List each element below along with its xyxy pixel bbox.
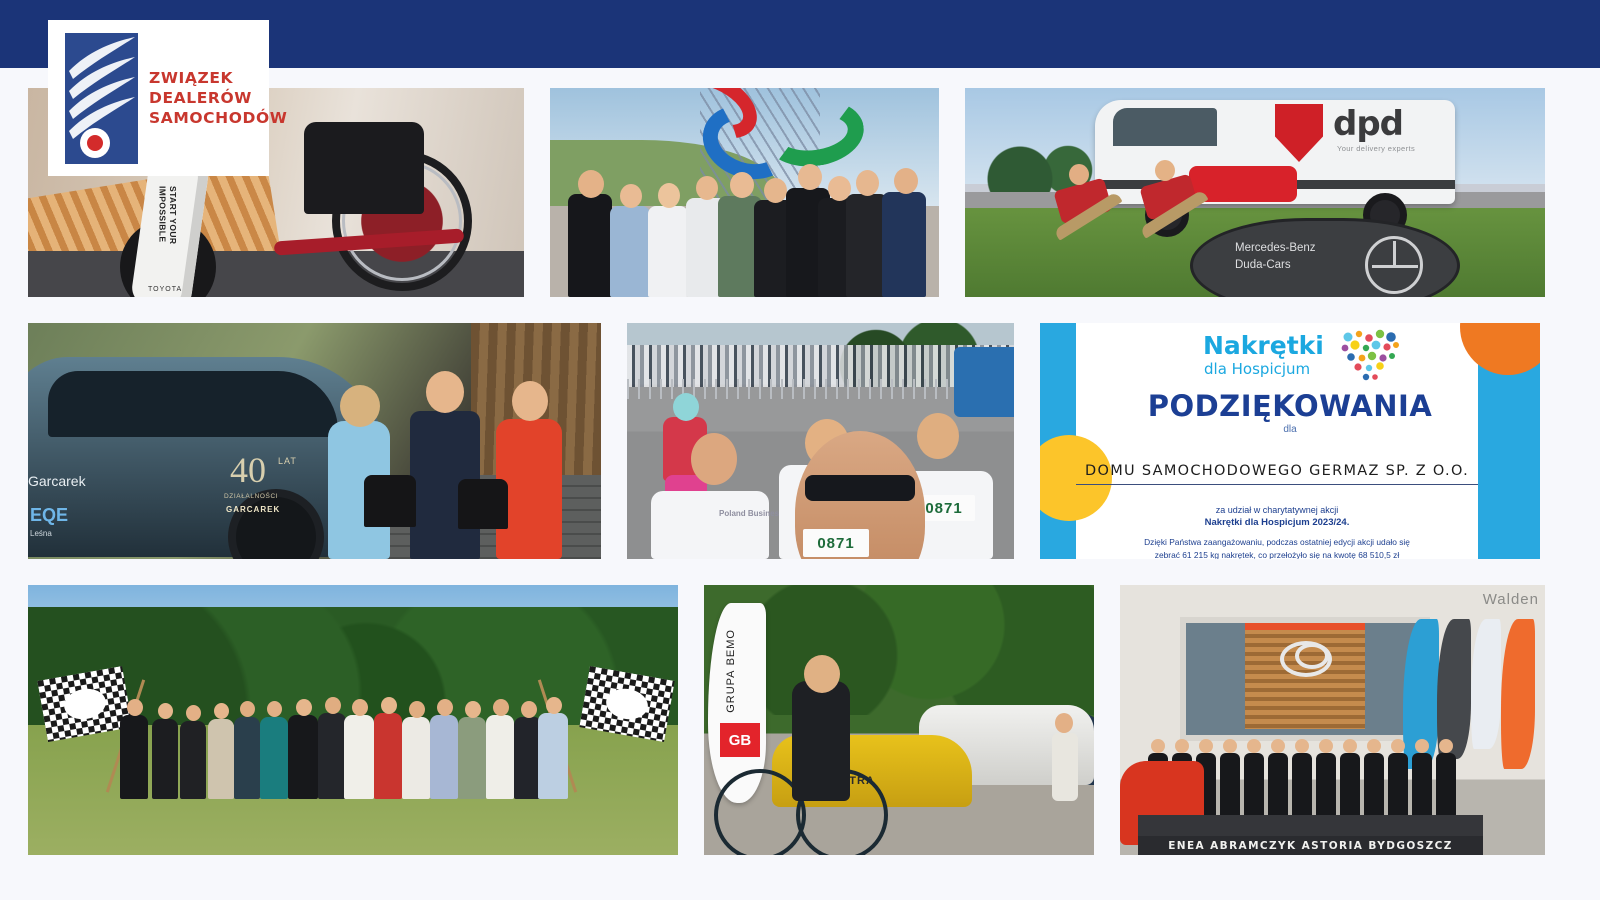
certificate-body-line-4: zebrać 61 215 kg nakrętek, co przełożyło… (1076, 550, 1478, 559)
flag-banner-white (1471, 619, 1501, 749)
photo-grupa-bemo-cyclist[interactable]: ASTRA GRUPA BEMO GB (704, 585, 1094, 855)
dealer-location: Leśna (30, 529, 52, 538)
dpd-brand: dpd (1333, 104, 1403, 144)
photo-toyota-astoria-bydgoszcz[interactable]: Walden (1120, 585, 1545, 855)
photo-team-checkered-flags[interactable] (28, 585, 678, 855)
nakretki-logo-line-2: dla Hospicjum (1204, 360, 1310, 378)
certificate-title: PODZIĘKOWANIA (1040, 389, 1540, 423)
certificate-body-line-1: za udział w charytatywnej akcji (1076, 505, 1478, 515)
sponsor-line-2: BEMO (725, 629, 737, 665)
nakretki-logo-line-1: Nakrętki (1203, 331, 1324, 360)
dealer-name: Garcarek (28, 473, 86, 489)
anniversary-sub: DZIAŁALNOŚCI (224, 493, 278, 500)
zds-logo-mark-icon (65, 33, 138, 164)
car-model: EQE (30, 505, 68, 526)
bottlecap-heart-icon (1340, 329, 1402, 385)
anniversary-brand: GARCAREK (226, 505, 280, 514)
handbike-slogan: START YOUR IMPOSSIBLE (156, 186, 178, 297)
photo-paralympic-group[interactable] (550, 88, 939, 297)
certificate-for-label: dla (1040, 424, 1540, 435)
certificate-body-line-2: Nakrętki dla Hospicjum 2023/24. (1076, 517, 1478, 528)
sponsor-line-1: GRUPA (725, 669, 737, 712)
handbike-brand: TOYOTA (148, 286, 182, 293)
sponsor-badge: GB (720, 723, 760, 757)
site-logo[interactable]: ZWIĄZEK DEALERÓW SAMOCHODÓW (48, 20, 269, 176)
photo-poland-business-run[interactable]: Poland Business Run 2024 0871 0871 (627, 323, 1014, 559)
banner-text: Mercedes-Benz Duda-Cars (1235, 240, 1316, 275)
building-sign: Walden (1483, 591, 1539, 608)
page-root: ZWIĄZEK DEALERÓW SAMOCHODÓW START YO (0, 0, 1600, 900)
anniversary-unit: LAT (278, 456, 297, 466)
logo-line-1: ZWIĄZEK (149, 70, 287, 86)
banner-line-1: Mercedes-Benz (1235, 240, 1316, 257)
certificate-recipient: DOMU SAMOCHODOWEGO GERMAZ SP. Z O.O. (1076, 463, 1478, 485)
mercedes-star-icon (1365, 236, 1423, 294)
bib-number-center: 0871 (803, 529, 869, 557)
logo-line-2: DEALERÓW (149, 90, 287, 106)
photo-dpd-van[interactable]: dpd Your delivery experts Mercedes-Benz … (965, 88, 1545, 297)
toyota-logo-icon (1280, 641, 1332, 677)
gallery-row-3: ASTRA GRUPA BEMO GB (28, 585, 1545, 855)
orange-circle-decoration (1460, 323, 1540, 375)
site-logo-text: ZWIĄZEK DEALERÓW SAMOCHODÓW (149, 70, 287, 127)
logo-line-3: SAMOCHODÓW (149, 110, 287, 126)
certificate-body-line-3: Dzięki Państwa zaangażowaniu, podczas os… (1076, 537, 1478, 547)
anniversary-number: 40 (230, 449, 266, 491)
photo-nakretki-certificate[interactable]: Nakrętki dla Hospicjum (1040, 323, 1540, 559)
dpd-tagline: Your delivery experts (1337, 144, 1415, 153)
sponsor-name: GRUPA BEMO (724, 629, 739, 713)
flag-banner-orange (1501, 619, 1535, 769)
photo-garcarek-anniversary[interactable]: 40 LAT DZIAŁALNOŚCI GARCAREK Garcarek EQ… (28, 323, 601, 559)
stage-banner-text: ENEA ABRAMCZYK ASTORIA BYDGOSZCZ (1138, 836, 1483, 855)
photo-gallery: START YOUR IMPOSSIBLE TOYOTA (0, 68, 1600, 900)
gallery-row-2: 40 LAT DZIAŁALNOŚCI GARCAREK Garcarek EQ… (28, 323, 1540, 559)
banner-line-2: Duda-Cars (1235, 257, 1316, 274)
